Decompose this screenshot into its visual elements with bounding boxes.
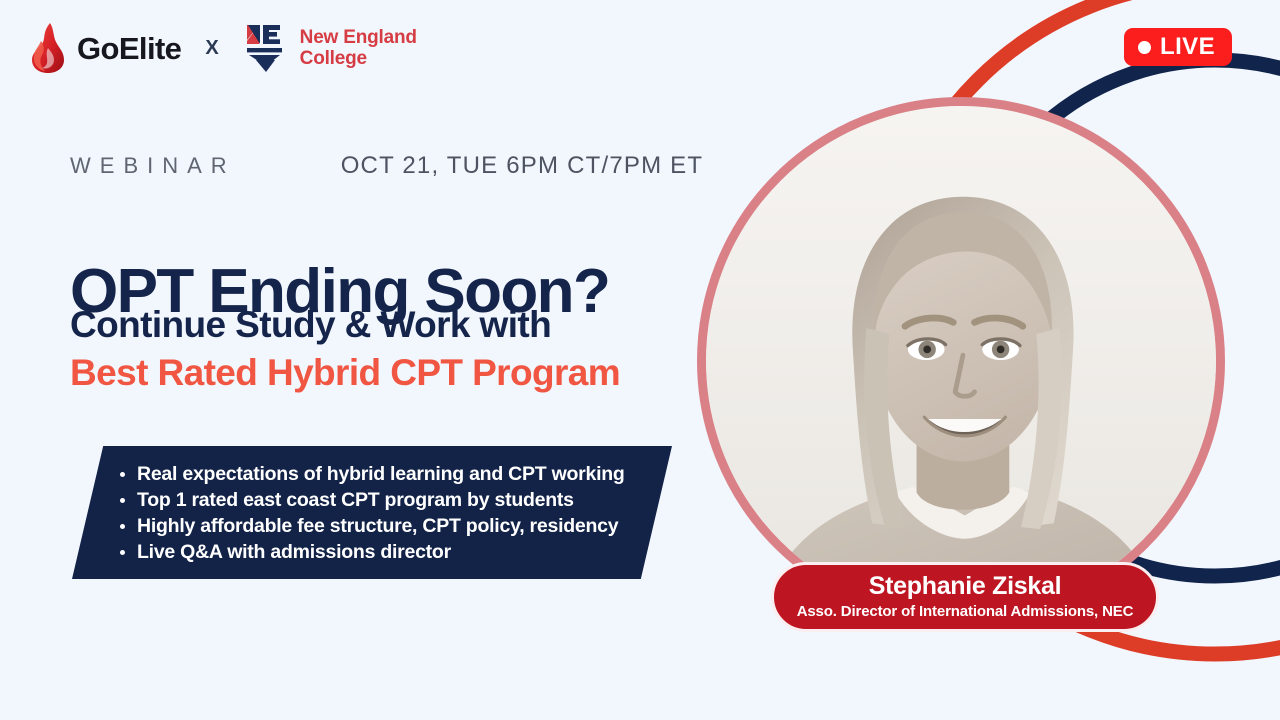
webinar-promo-slide: GoElite X New England College [0,0,1280,720]
subheadline-accent: Best Rated Hybrid CPT Program [70,353,620,394]
nec-wordmark: New England College [300,27,417,70]
webinar-datetime: OCT 21, TUE 6PM CT/7PM ET [341,152,704,180]
eyebrow-row: WEBINAR OCT 21, TUE 6PM CT/7PM ET [70,152,703,180]
record-dot-icon [1138,41,1151,54]
brand-bar: GoElite X New England College [28,20,417,76]
benefits-panel: Real expectations of hybrid learning and… [72,446,672,579]
nec-line-2: College [300,48,417,69]
new-england-college-logo[interactable]: New England College [243,20,417,76]
list-item: Live Q&A with admissions director [120,539,672,565]
portrait-ring [697,97,1225,625]
goelite-logo[interactable]: GoElite [28,22,181,74]
benefits-list: Real expectations of hybrid learning and… [72,446,672,565]
collab-separator: X [199,37,224,60]
list-item: Real expectations of hybrid learning and… [120,461,672,487]
flame-icon [28,22,68,74]
live-badge[interactable]: LIVE [1124,28,1232,66]
list-item: Highly affordable fee structure, CPT pol… [120,513,672,539]
nec-line-1: New England [300,27,417,48]
speaker-title: Asso. Director of International Admissio… [797,603,1134,621]
live-badge-label: LIVE [1160,35,1215,59]
speaker-portrait [697,97,1225,625]
list-item: Top 1 rated east coast CPT program by st… [120,487,672,513]
goelite-wordmark: GoElite [77,33,181,64]
speaker-name-badge: Stephanie Ziskal Asso. Director of Inter… [771,562,1159,632]
speaker-name: Stephanie Ziskal [869,573,1062,600]
avatar [706,106,1216,616]
nec-shield-icon [243,20,289,76]
subheadline-primary: Continue Study & Work with [70,305,551,346]
webinar-label: WEBINAR [70,153,236,179]
